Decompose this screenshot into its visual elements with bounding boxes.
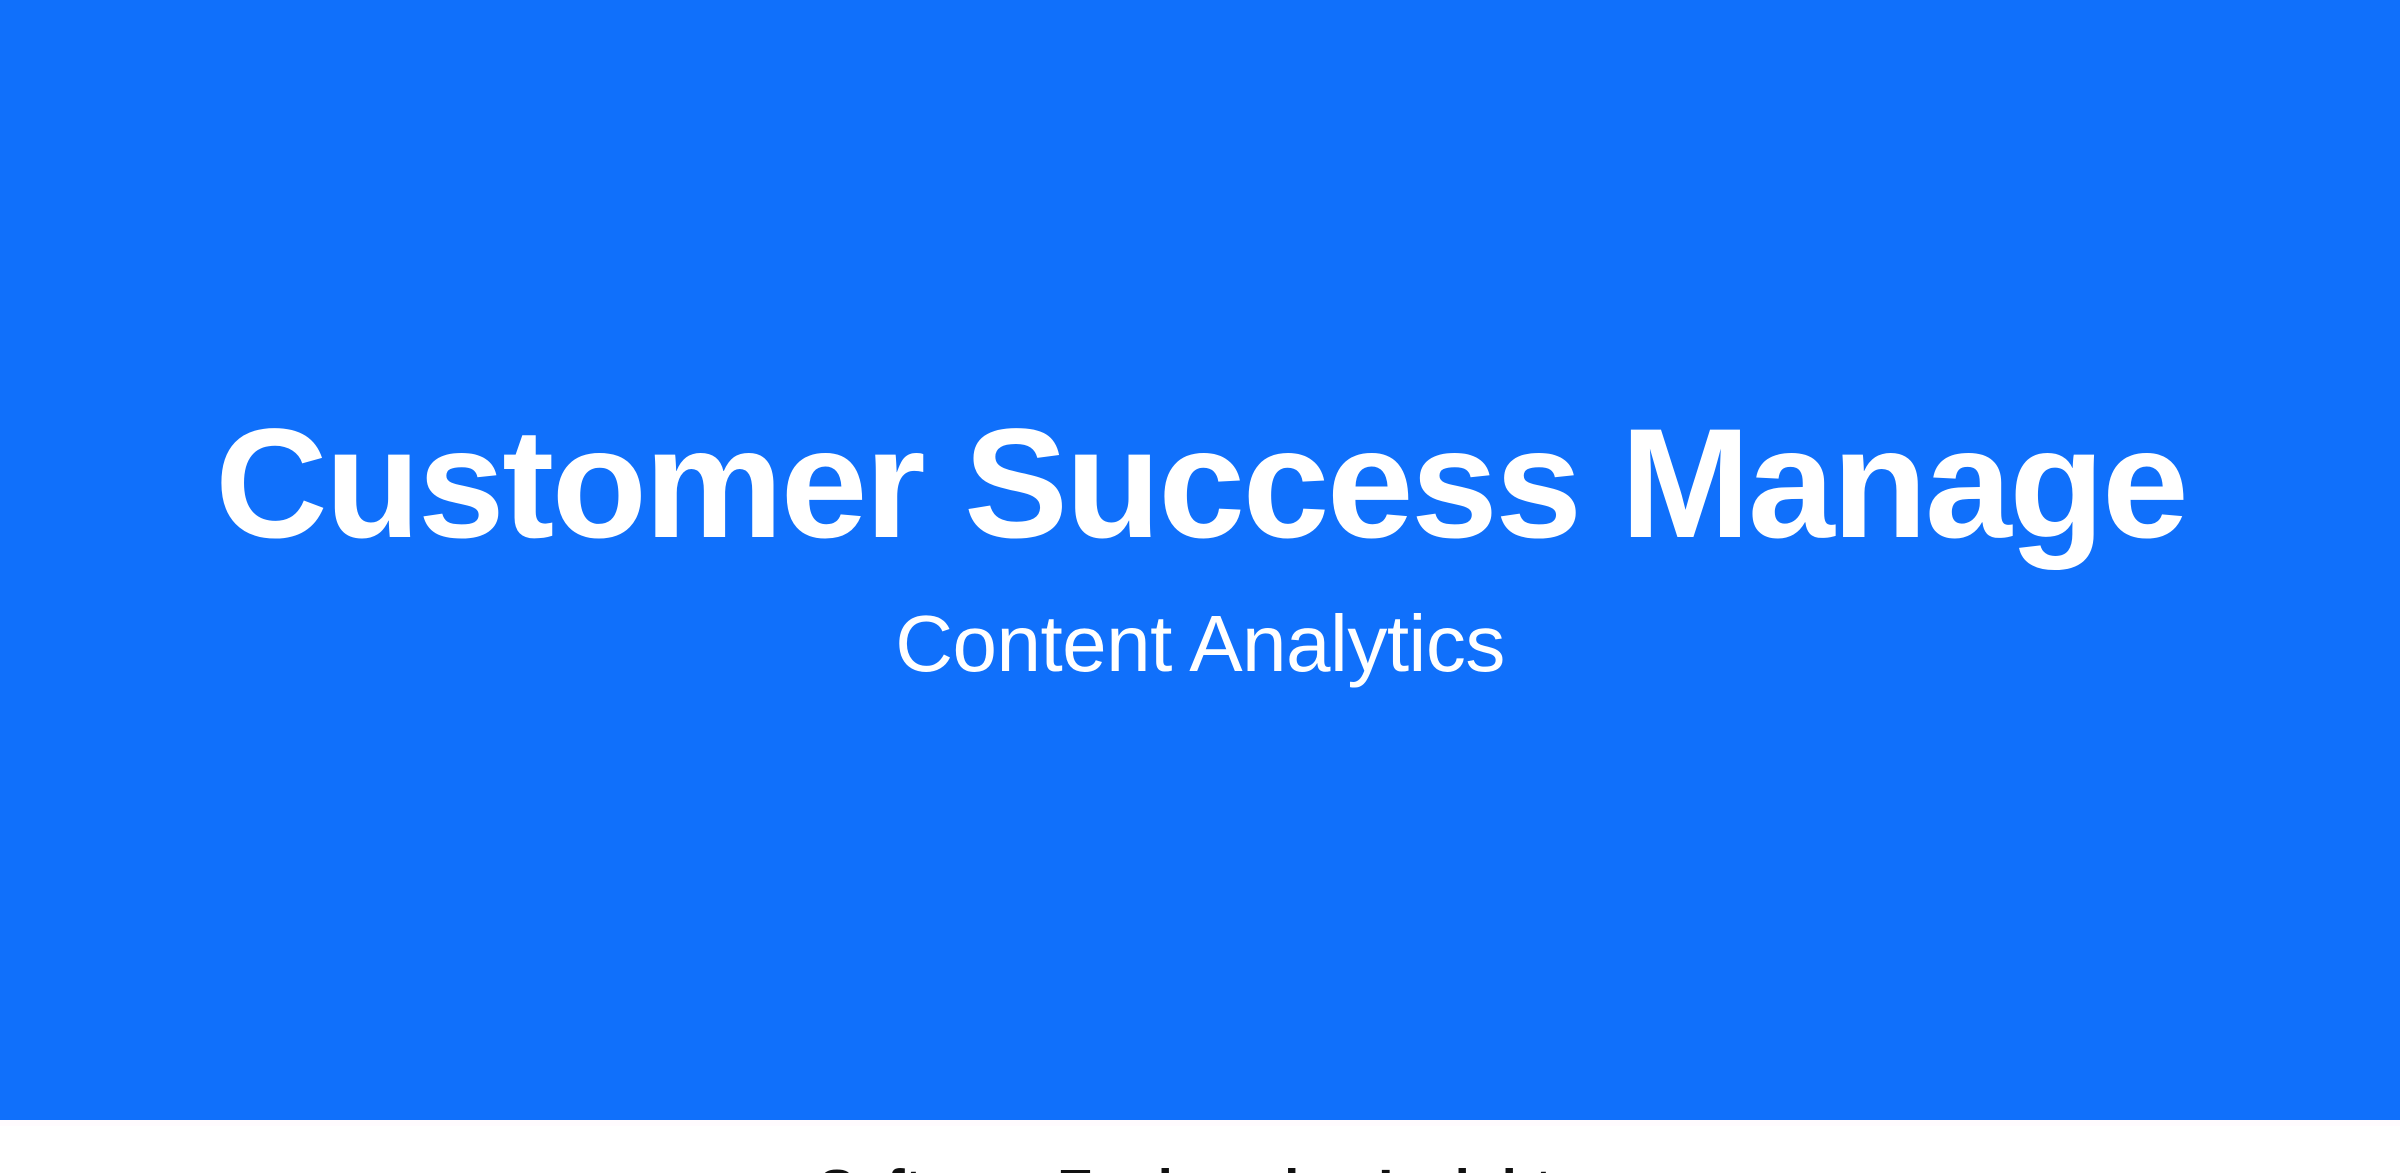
hero-panel: Customer Success Manage Content Analytic… (0, 0, 2400, 1120)
lower-caption-text: Software Engineering Insights (819, 1162, 1582, 1173)
page-subtitle: Content Analytics (895, 596, 1505, 692)
hero-title-container: Customer Success Manage (0, 406, 2400, 576)
page-title: Customer Success Manage (215, 406, 2186, 562)
band-seam-divider (0, 1120, 2400, 1126)
hero-subtitle-container: Content Analytics (0, 596, 2400, 696)
slide-root: Customer Success Manage Content Analytic… (0, 0, 2400, 1173)
lower-caption-container: Software Engineering Insights (0, 1162, 2400, 1173)
lower-band: Software Engineering Insights (0, 1120, 2400, 1173)
